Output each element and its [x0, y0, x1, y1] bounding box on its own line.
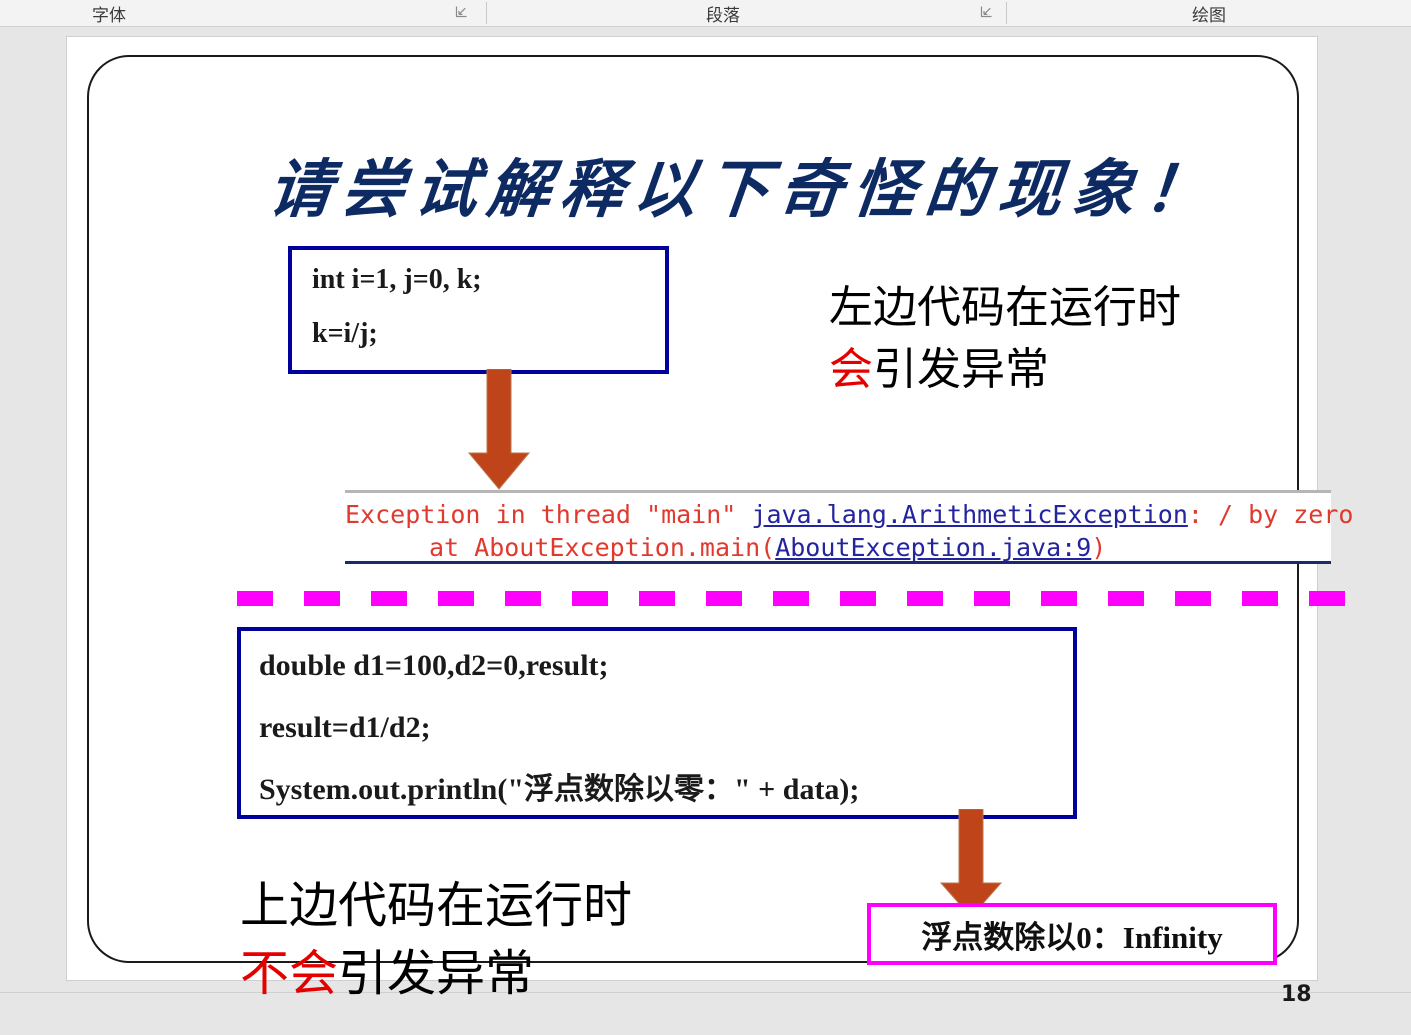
ribbon-group-paragraph-label: 段落 — [706, 1, 740, 26]
code-line: int i=1, j=0, k; — [312, 266, 665, 294]
page-title: 请尝试解释以下奇怪的现象！ — [264, 139, 1274, 230]
code-line: System.out.println("浮点数除以零：" + data); — [259, 775, 1073, 805]
console-exception-output: Exception in thread "main" java.lang.Ari… — [345, 490, 1331, 564]
exception-link-class[interactable]: java.lang.ArithmeticException — [751, 500, 1188, 529]
ribbon-divider-2 — [1006, 2, 1007, 24]
code-line: k=i/j; — [312, 320, 665, 348]
slide-rounded-frame: 请尝试解释以下奇怪的现象！ int i=1, j=0, k; k=i/j; 左边… — [87, 55, 1299, 963]
exception-text-4: ) — [1091, 533, 1106, 562]
exception-text-2: : / by zero — [1188, 500, 1354, 529]
ribbon-group-draw[interactable]: 绘图 — [1010, 0, 1411, 26]
exception-link-source[interactable]: AboutException.java:9 — [775, 533, 1091, 562]
code-line: result=d1/d2; — [259, 713, 1073, 743]
exception-line-2: at AboutException.main(AboutException.ja… — [345, 532, 1331, 565]
slide-page-number: 18 — [1281, 982, 1312, 1007]
dashed-divider — [237, 591, 1365, 606]
slide-page[interactable]: 请尝试解释以下奇怪的现象！ int i=1, j=0, k; k=i/j; 左边… — [66, 36, 1318, 981]
bottom-annotation-line1: 上边代码在运行时 — [240, 872, 800, 940]
dialog-launcher-icon[interactable] — [980, 5, 993, 18]
bottom-annotation-highlight: 不会 — [240, 945, 338, 1002]
down-arrow-to-exception — [465, 369, 533, 491]
exception-text-3: at AboutException.main( — [429, 533, 775, 562]
dialog-launcher-icon[interactable] — [455, 5, 468, 18]
ribbon-bar: 字体 段落 绘图 — [0, 0, 1411, 27]
exception-text-1: Exception in thread "main" — [345, 500, 751, 529]
ribbon-group-draw-label: 绘图 — [1192, 1, 1226, 26]
right-annotation-line1: 左边代码在运行时 — [829, 277, 1299, 339]
ribbon-divider-1 — [486, 2, 487, 24]
bottom-annotation-line2: 不会引发异常 — [240, 940, 800, 1008]
right-annotation-highlight: 会 — [829, 344, 873, 395]
code-line: double d1=100,d2=0,result; — [259, 651, 1073, 681]
right-annotation-line2-rest: 引发异常 — [873, 344, 1049, 395]
exception-line-1: Exception in thread "main" java.lang.Ari… — [345, 499, 1331, 532]
code-box-double-division[interactable]: double d1=100,d2=0,result; result=d1/d2;… — [237, 627, 1077, 819]
right-annotation-text: 左边代码在运行时 会引发异常 — [829, 277, 1299, 402]
bottom-annotation-text: 上边代码在运行时 不会引发异常 — [240, 872, 800, 1007]
ribbon-group-paragraph[interactable]: 段落 — [490, 0, 1007, 26]
ribbon-group-font[interactable]: 字体 — [0, 0, 478, 26]
bottom-annotation-line2-rest: 引发异常 — [338, 945, 534, 1002]
result-box-infinity[interactable]: 浮点数除以0：Infinity — [867, 903, 1277, 965]
right-annotation-line2: 会引发异常 — [829, 339, 1299, 401]
result-box-infinity-label: 浮点数除以0：Infinity — [921, 912, 1222, 957]
code-box-integer-division[interactable]: int i=1, j=0, k; k=i/j; — [288, 246, 669, 374]
ribbon-group-font-label: 字体 — [92, 1, 126, 26]
